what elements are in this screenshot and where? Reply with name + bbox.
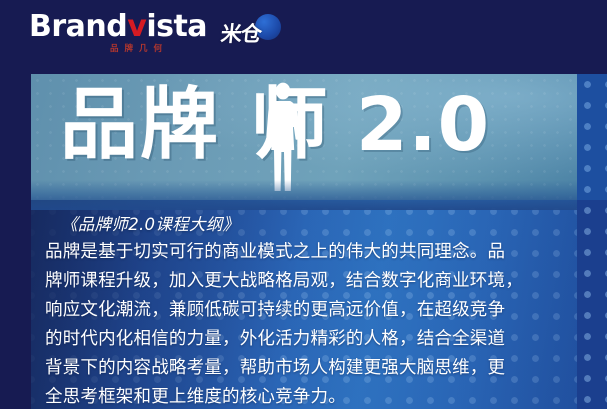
left-margin-rail (0, 74, 31, 409)
description-line-2: 牌师课程升级，加入更大战略格局观，结合数字化商业环境， (45, 267, 565, 296)
description-line-4: 的时代内化相信的力量，外化活力精彩的人格，结合全渠道 (45, 325, 565, 354)
description-line-5: 背景下的内容战略考量，帮助市场人构建更强大脑思维，更 (45, 354, 565, 383)
logo-mark-cn: 米仓 (219, 18, 262, 48)
logo-text-block: Brandvista 品牌几何 (29, 12, 207, 54)
description-panel: 《品牌师2.0课程大纲》 品牌是基于切实可行的商业模式之上的伟大的共同理念。品 … (31, 200, 577, 409)
logo-word-part1: Brand (29, 9, 127, 44)
hero-banner: 品牌师 2.0 (31, 74, 577, 202)
hero-version: 2.0 (356, 88, 490, 162)
description-line-3: 响应文化潮流，兼顾低碳可持续的更高远价值，在超级竞争 (45, 296, 565, 325)
dot-pattern-column-top (577, 74, 607, 200)
description-text: 《品牌师2.0课程大纲》 品牌是基于切实可行的商业模式之上的伟大的共同理念。品 … (45, 211, 565, 409)
logo-word-part2: ista (146, 9, 207, 44)
course-outline-title: 《品牌师2.0课程大纲》 (45, 211, 565, 235)
brand-header: Brandvista 品牌几何 米仓 (0, 0, 607, 74)
poster-canvas: Brandvista 品牌几何 米仓 品牌师 2.0 《品牌师2.0课程大纲》 (0, 0, 607, 409)
standing-person-silhouette-icon (263, 80, 303, 192)
logo-subtitle-cn: 品牌几何 (29, 45, 207, 54)
logo-wordmark: Brandvista (29, 12, 207, 42)
logo-word-accent: v (127, 9, 146, 44)
brand-logo[interactable]: Brandvista 品牌几何 米仓 (29, 12, 283, 56)
description-line-6: 全思考框架和更上维度的核心竞争力。 (45, 383, 565, 409)
hero-title-cn-a: 品牌 (60, 80, 220, 170)
description-line-1: 品牌是基于切实可行的商业模式之上的伟大的共同理念。品 (45, 238, 565, 267)
logo-mark: 米仓 (219, 12, 283, 56)
